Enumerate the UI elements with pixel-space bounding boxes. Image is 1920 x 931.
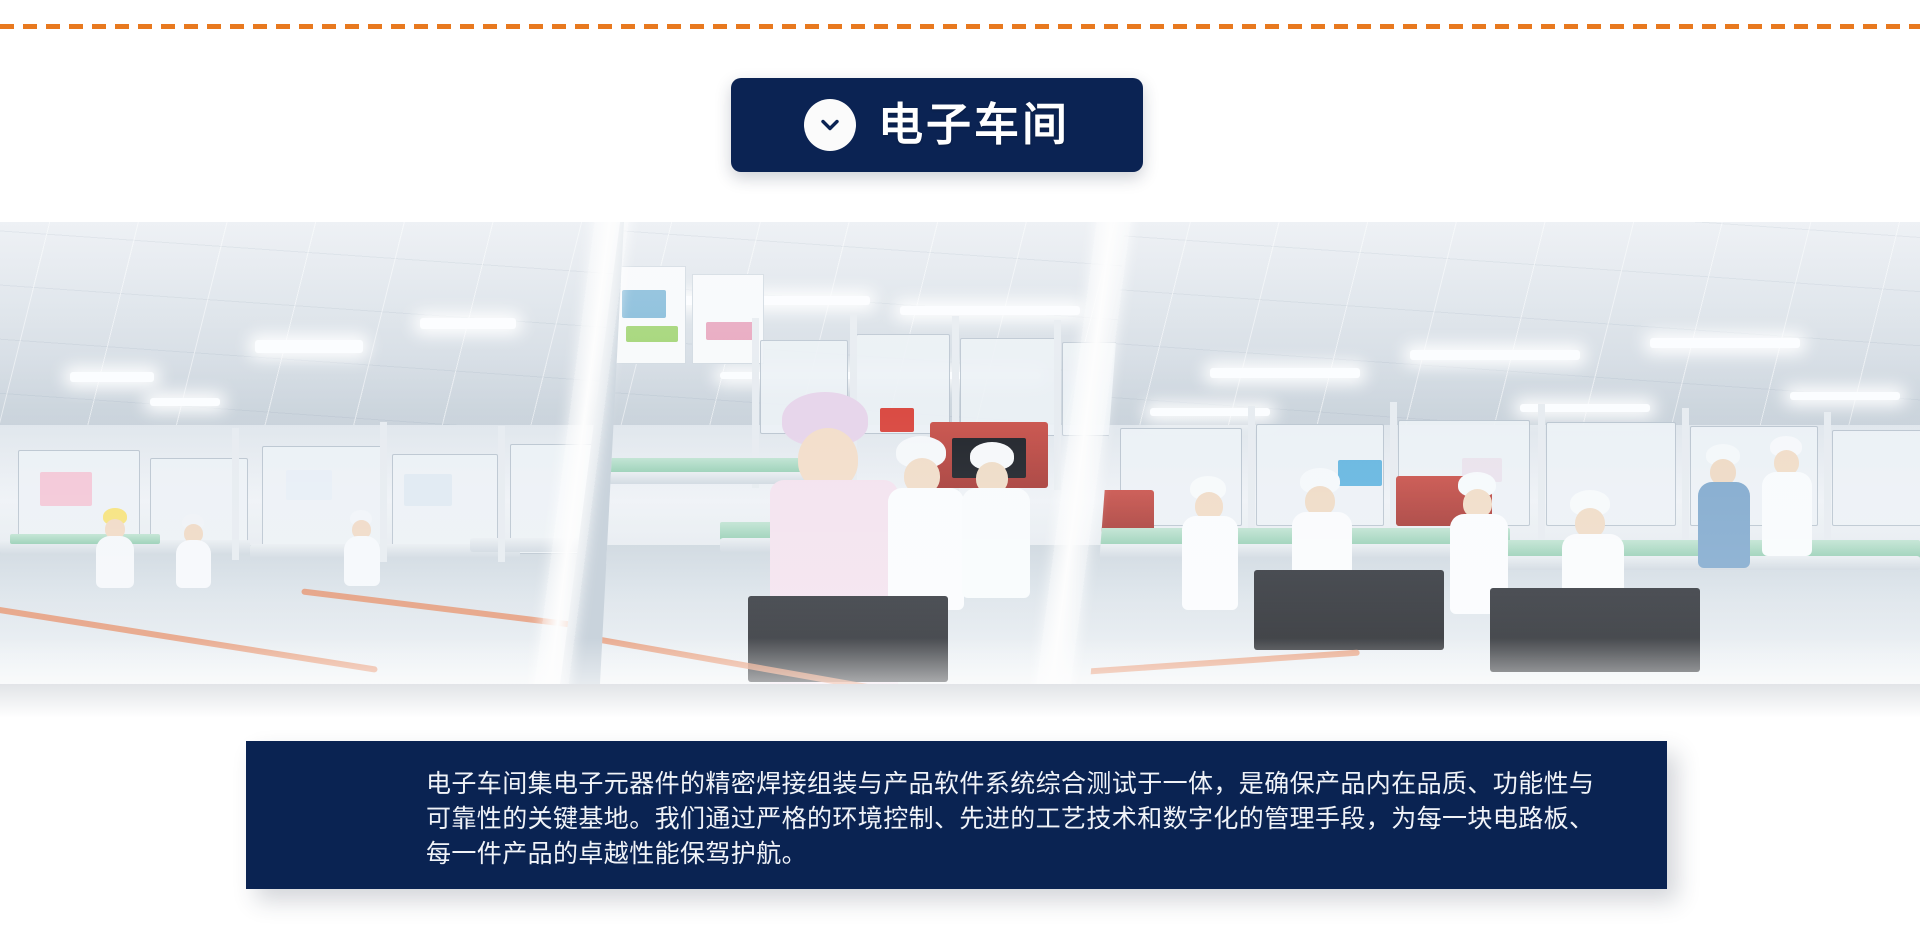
section-title-banner[interactable]: 电子车间 — [731, 78, 1143, 172]
chevron-down-circle-icon — [804, 99, 856, 151]
description-text: 电子车间集电子元器件的精密焊接组装与产品软件系统综合测试于一体，是确保产品内在品… — [426, 767, 1607, 872]
description-card: 电子车间集电子元器件的精密焊接组装与产品软件系统综合测试于一体，是确保产品内在品… — [246, 741, 1667, 889]
workshop-photo-strip — [0, 222, 1920, 684]
top-divider-area — [0, 0, 1920, 52]
photo-strip-shadow — [0, 684, 1920, 718]
orange-dashed-rule — [0, 24, 1920, 29]
page-title: 电子车间 — [878, 103, 1070, 148]
production-line-testing — [1090, 222, 1920, 684]
gallery-panel-3[interactable] — [1090, 222, 1920, 684]
